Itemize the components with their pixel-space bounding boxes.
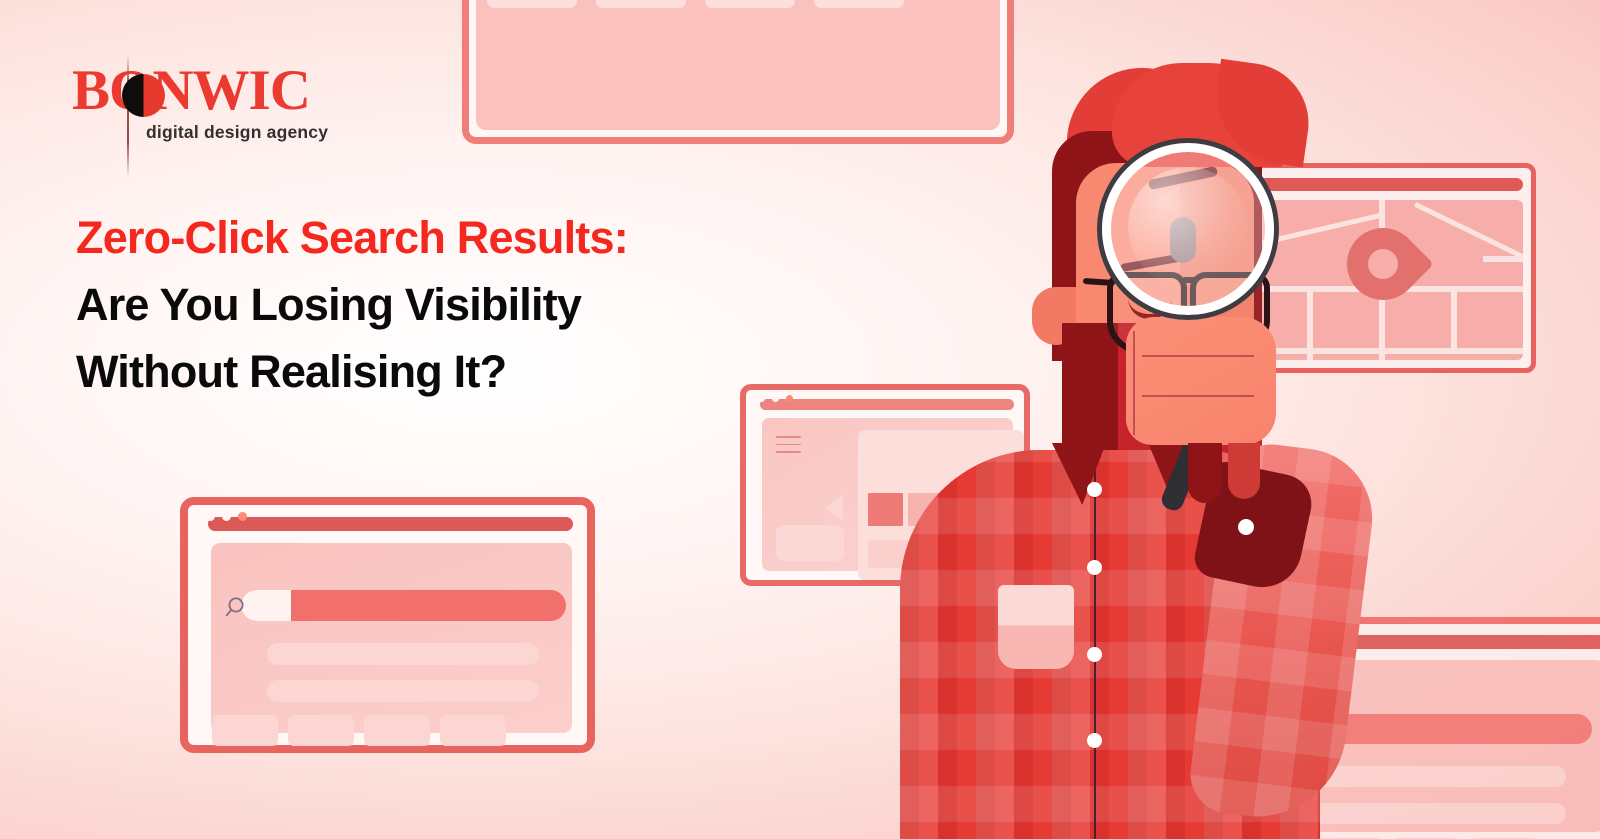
logo-tagline: digital design agency [146,122,328,143]
shirt-button [1087,560,1102,575]
magnifier-glare [1128,167,1248,287]
result-line [267,643,539,665]
logo-o-mark-icon [122,74,165,117]
result-tile [212,715,278,746]
window-traffic-lights [206,512,247,521]
window-frame [180,497,595,753]
result-tile [440,715,506,746]
window-content-area [211,543,572,733]
hand-fist [1126,317,1276,445]
banner-canvas: BONWIC digital design agency Zero-Click … [0,0,1600,839]
window-dot [206,512,215,521]
shirt-pocket [998,585,1074,669]
result-tile [364,715,430,746]
finger-line [1142,355,1254,357]
shirt-placket [1094,450,1096,839]
knuckle-shadow [1188,443,1222,503]
content-chip [487,0,577,8]
content-chip [814,0,904,8]
thumb-line [1133,331,1135,435]
window-dot [222,512,231,521]
result-tile [288,715,354,746]
shirt-button [1087,733,1102,748]
headline-line-2: Are You Losing Visibility [76,271,836,338]
result-tile-row [212,715,506,746]
content-chip [596,0,686,8]
search-icon [225,595,251,621]
logo-wordmark: BONWIC [72,62,310,119]
media-thumbnail [776,525,844,561]
cuff-button [1238,519,1254,535]
window-titlebar [208,517,573,531]
character-illustration [880,55,1440,839]
result-line [267,680,539,702]
hamburger-icon [776,436,801,459]
window-dot-accent [238,512,247,521]
finger-line [1142,395,1254,397]
search-input [241,590,566,621]
play-icon [826,495,843,521]
knuckle-shadow [1228,443,1260,499]
headline-line-1: Zero-Click Search Results: [76,204,836,271]
content-chip [705,0,795,8]
map-road [1451,292,1457,354]
shirt-button [1087,482,1102,497]
headline-line-3: Without Realising It? [76,338,836,405]
browser-window-search [180,497,595,753]
brand-logo[interactable]: BONWIC digital design agency [72,58,392,178]
shirt-button [1087,647,1102,662]
headline-block: Zero-Click Search Results: Are You Losin… [76,204,836,405]
content-chip-row [487,0,904,8]
